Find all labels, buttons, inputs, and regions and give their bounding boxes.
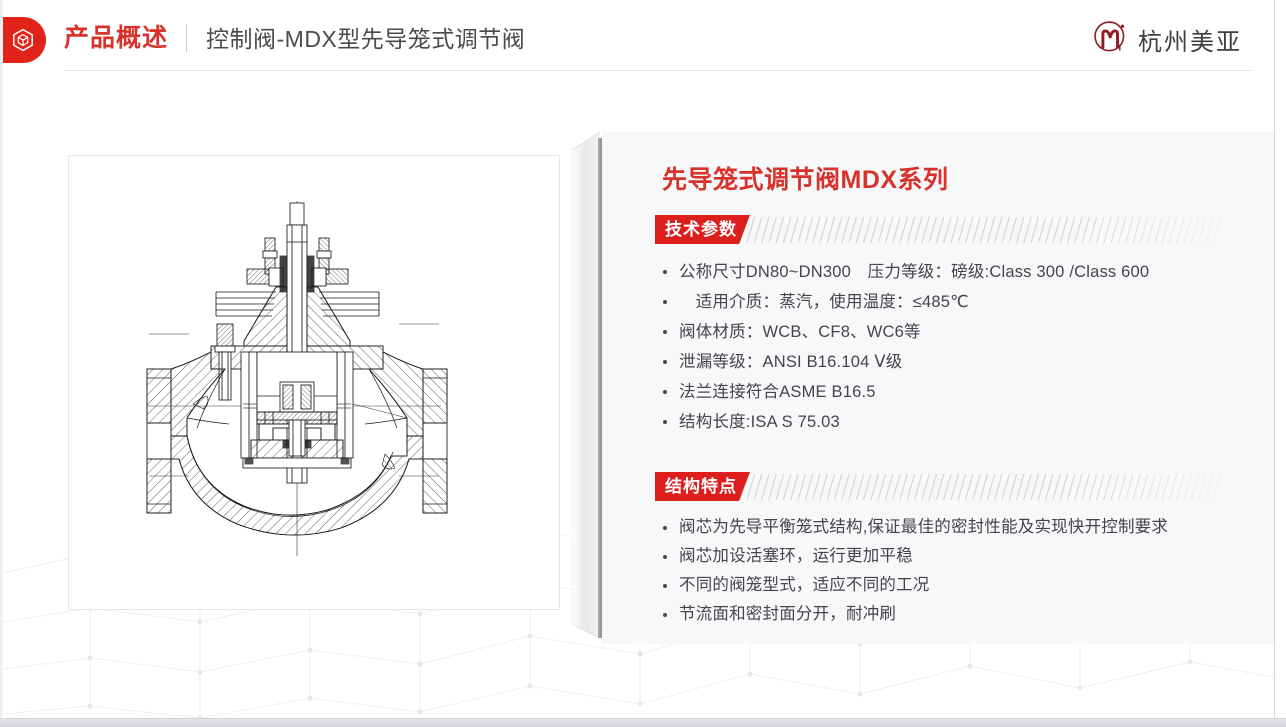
page-header: 产品概述 控制阀-MDX型先导笼式调节阀 杭州美亚 <box>0 0 1286 77</box>
product-series-title: 先导笼式调节阀MDX系列 <box>662 160 949 196</box>
list-item: 泄漏等级：ANSI B16.104 Ⅴ级 <box>657 347 1267 377</box>
brand-name-label: 杭州美亚 <box>1138 22 1242 57</box>
list-item: 阀芯加设活塞环，运行更加平稳 <box>657 542 1267 571</box>
page-subtitle: 控制阀-MDX型先导笼式调节阀 <box>206 23 525 55</box>
page-title: 产品概述 <box>64 22 168 54</box>
structure-features-list: 阀芯为先导平衡笼式结构,保证最佳的密封性能及实现快开控制要求阀芯加设活塞环，运行… <box>657 513 1267 629</box>
section-header-tech-params: 技术参数 <box>655 215 1215 244</box>
cube-hexagon-icon <box>11 28 35 52</box>
list-item: 不同的阀笼型式，适应不同的工况 <box>657 571 1267 600</box>
window-left-edge <box>0 0 3 727</box>
panel-content: 先导笼式调节阀MDX系列 技术参数 公称尺寸DN80~DN300 压力等级：磅级… <box>602 132 1278 644</box>
list-item: 适用介质：蒸汽，使用温度：≤485℃ <box>657 287 1267 317</box>
list-item: 公称尺寸DN80~DN300 压力等级：磅级:Class 300 /Class … <box>657 257 1267 287</box>
panel-spine <box>598 138 602 638</box>
window-bottom-bar <box>0 718 1286 727</box>
valve-drawing-card <box>68 155 560 610</box>
section-tag-tech-params: 技术参数 <box>655 215 750 244</box>
section-badge <box>0 17 46 63</box>
header-bottom-rule <box>64 70 1252 71</box>
section-header-structure: 结构特点 <box>655 472 1215 501</box>
section-hatch-trail-2 <box>739 474 1221 500</box>
section-tag-structure: 结构特点 <box>655 472 750 501</box>
list-item: 阀芯为先导平衡笼式结构,保证最佳的密封性能及实现快开控制要求 <box>657 513 1267 542</box>
control-valve-cross-section-drawing <box>69 156 559 609</box>
meiya-m-logo-icon <box>1091 20 1129 58</box>
section-hatch-trail-1 <box>739 217 1221 243</box>
list-item: 节流面和密封面分开，耐冲刷 <box>657 600 1267 629</box>
list-item: 法兰连接符合ASME B16.5 <box>657 377 1267 407</box>
list-item: 阀体材质：WCB、CF8、WC6等 <box>657 317 1267 347</box>
presentation-page: 产品概述 控制阀-MDX型先导笼式调节阀 杭州美亚 <box>0 0 1286 727</box>
list-item: 结构长度:ISA S 75.03 <box>657 407 1267 437</box>
window-right-edge <box>1274 0 1286 727</box>
tech-params-list: 公称尺寸DN80~DN300 压力等级：磅级:Class 300 /Class … <box>657 257 1267 437</box>
header-divider <box>186 24 187 52</box>
brand-logo: 杭州美亚 <box>1091 20 1242 58</box>
spec-panel: 先导笼式调节阀MDX系列 技术参数 公称尺寸DN80~DN300 压力等级：磅级… <box>572 132 1278 644</box>
